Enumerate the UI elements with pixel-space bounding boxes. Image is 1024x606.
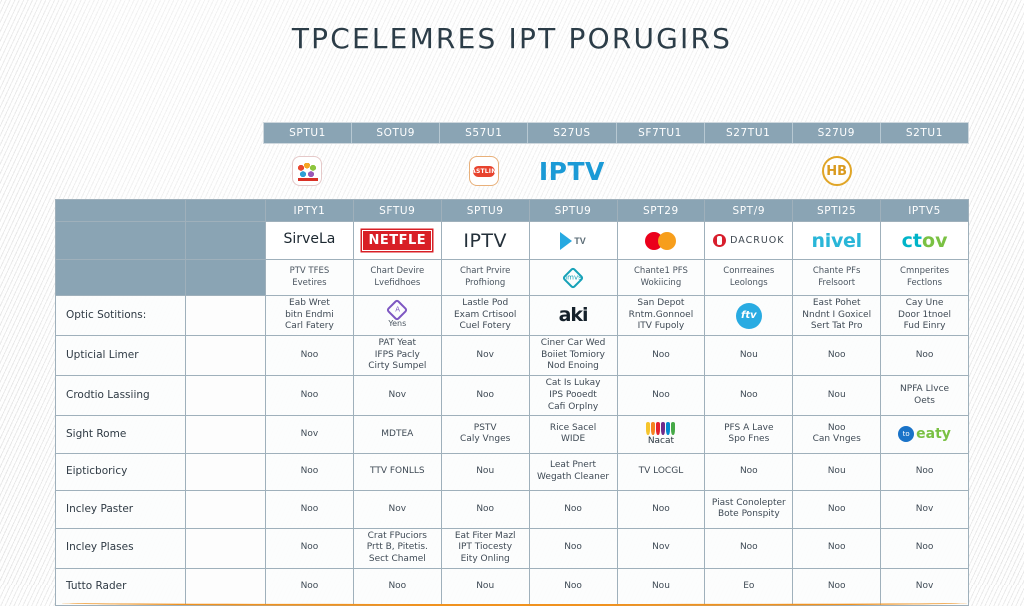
brand-logo-row: SirveLa NETFLE IPTV TV DACRUOK nivel cto… (56, 222, 969, 260)
page-title: TPCELEMRES IPT PORUGIRS (0, 22, 1024, 55)
row-spacer-cell (186, 491, 266, 529)
brand-cell-tv: TV (529, 222, 617, 260)
data-cell: Crat FPuciors Prtt B, Pitetis. Sect Cham… (353, 528, 441, 568)
data-cell-eaty: toeaty (881, 416, 969, 454)
data-cell: Noo (793, 491, 881, 529)
eaty-label: eaty (916, 425, 951, 443)
data-cell: Noo (617, 491, 705, 529)
brand-cell-nivel: nivel (793, 222, 881, 260)
tv-triangle-icon (560, 232, 572, 250)
row-label: Incley Plases (56, 528, 186, 568)
top-band-cell: S2TU1 (881, 123, 968, 143)
data-cell-nbc: Nacat (617, 416, 705, 454)
data-cell: Noo (793, 336, 881, 376)
row-spacer-cell (186, 376, 266, 416)
data-cell: TV LOCGL (617, 453, 705, 491)
sirvela-logo-icon: SirveLa (284, 231, 336, 251)
ctov-logo-icon: ctov (902, 230, 948, 252)
data-cell: Nov (881, 491, 969, 529)
mastercard-logo-icon (618, 232, 705, 250)
table-row[interactable]: Eipticboricy Noo TTV FONLLS Nou Leat Pne… (56, 453, 969, 491)
data-cell: Noo (266, 376, 354, 416)
sub-cell: Chart Devire Lvefidhoes (353, 260, 441, 296)
data-cell: Piast Conolepter Bote Ponspity (705, 491, 793, 529)
row-spacer-cell (186, 453, 266, 491)
row-label: Upticial Limer (56, 336, 186, 376)
top-band-cell: S27TU1 (705, 123, 793, 143)
data-cell-ftv: ftv (705, 296, 793, 336)
sub-cell: Conrreaines Leolongs (705, 260, 793, 296)
data-cell: Noo (266, 491, 354, 529)
data-cell: Leat Pnert Wegath Cleaner (529, 453, 617, 491)
table-row[interactable]: Incley Plases Noo Crat FPuciors Prtt B, … (56, 528, 969, 568)
data-cell: NPFA LIvce Oets (881, 376, 969, 416)
logo-slot-empty (351, 144, 439, 198)
logo-slot: HB (793, 144, 881, 198)
data-cell: Lastle Pod Exam Crtisool Cuel Fotery (441, 296, 529, 336)
sub-row-label-pad (56, 260, 186, 296)
sub-cell: Cmnperites Fectlons (881, 260, 969, 296)
data-cell-diamond: A Yens (353, 296, 441, 336)
top-logo-band: CASTLINE IPTV HB (263, 144, 969, 198)
data-cell: Noo (266, 336, 354, 376)
column-header[interactable]: SPTU9 (529, 200, 617, 222)
column-header[interactable]: IPTY1 (266, 200, 354, 222)
eaty-circle-icon: to (898, 426, 914, 442)
table-row[interactable]: Incley Paster Noo Nov Noo Noo Noo Piast … (56, 491, 969, 529)
brand-cell-mastercard (617, 222, 705, 260)
peacock-logo-icon: Nacat (621, 422, 702, 448)
teal-diamond-icon: imvs (562, 266, 585, 289)
data-cell: Noo (266, 453, 354, 491)
brand-cell-sirvela: SirveLa (266, 222, 354, 260)
top-band-cell: SF7TU1 (617, 123, 705, 143)
data-cell: PSTV Caly Vnges (441, 416, 529, 454)
data-cell: Nov (266, 416, 354, 454)
data-cell: East Pohet Nndnt I Goxicel Sert Tat Pro (793, 296, 881, 336)
hb-circle-icon: HB (822, 156, 852, 186)
brand-row-label-pad (56, 222, 186, 260)
dacruok-flame-icon (713, 234, 726, 247)
flower-tile-icon (292, 156, 322, 186)
nbc-label: Nacat (648, 436, 674, 448)
data-cell: Noo (529, 528, 617, 568)
dacruok-logo-label: DACRUOK (730, 235, 784, 246)
flower-bar-glyph (298, 178, 318, 181)
logo-slot-empty (881, 144, 969, 198)
column-header[interactable]: IPTV5 (881, 200, 969, 222)
logo-slot: IPTV (528, 144, 616, 198)
comparison-table: IPTY1 SFTU9 SPTU9 SPTU9 SPT29 SPT/9 SPTI… (55, 199, 969, 606)
cast-tile-icon: CASTLINE (469, 156, 499, 186)
column-header[interactable]: SPT29 (617, 200, 705, 222)
data-cell: Eab Wret bitn Endmi Carl Fatery (266, 296, 354, 336)
data-cell: MDTEA (353, 416, 441, 454)
brand-row-spacer-pad (186, 222, 266, 260)
brand-subtitle-row: PTV TFES Evetires Chart Devire Lvefidhoe… (56, 260, 969, 296)
aki-logo-icon: aki (559, 304, 588, 326)
data-cell: San Depot Rntm.Gonnoel ITV Fupoly (617, 296, 705, 336)
cast-pill-label: CASTLINE (473, 166, 495, 177)
data-cell: Noo (705, 453, 793, 491)
table-row[interactable]: Crodtio Lassiing Noo Nov Noo Cat Is Luka… (56, 376, 969, 416)
brand-cell-iptv: IPTV (441, 222, 529, 260)
top-band-cell: S27U9 (793, 123, 881, 143)
data-cell: Rice Sacel WIDE (529, 416, 617, 454)
top-brand-header-band: SPTU1 SOTU9 S57U1 S27US SF7TU1 S27TU1 S2… (263, 122, 969, 144)
data-cell: Noo (529, 491, 617, 529)
row-label: Crodtio Lassiing (56, 376, 186, 416)
brand-cell-netfle: NETFLE (353, 222, 441, 260)
top-band-cell: S57U1 (440, 123, 528, 143)
data-cell: Noo (617, 376, 705, 416)
logo-slot: CASTLINE (440, 144, 528, 198)
table-row[interactable]: Upticial Limer Noo PAT Yeat IFPS Pacly C… (56, 336, 969, 376)
brand-cell-dacruok: DACRUOK (705, 222, 793, 260)
data-cell-aki: aki (529, 296, 617, 336)
sub-cell: PTV TFES Evetires (266, 260, 354, 296)
tv-logo-label: TV (574, 236, 586, 246)
column-header[interactable]: SPTI25 (793, 200, 881, 222)
data-cell: Cat Is Lukay IPS Pooedt Cafi Orplny (529, 376, 617, 416)
data-cell: Nou (793, 453, 881, 491)
data-cell: Nov (353, 376, 441, 416)
table-header-row: IPTY1 SFTU9 SPTU9 SPTU9 SPT29 SPT/9 SPTI… (56, 200, 969, 222)
header-blank-spacer (186, 200, 266, 222)
data-cell: Nou (441, 453, 529, 491)
row-label: Incley Paster (56, 491, 186, 529)
data-cell: Noo (705, 528, 793, 568)
row-spacer-cell (186, 416, 266, 454)
data-cell: Noo (881, 528, 969, 568)
data-cell: Noo (793, 528, 881, 568)
data-cell: Nou (793, 376, 881, 416)
sub-cell: Chante1 PFS Wokiicing (617, 260, 705, 296)
ftv-circle-icon: ftv (736, 303, 762, 329)
table-row[interactable]: Optic Sotitions: Eab Wret bitn Endmi Car… (56, 296, 969, 336)
nivel-logo-icon: nivel (812, 230, 862, 252)
header-blank-label (56, 200, 186, 222)
column-header[interactable]: SPTU9 (441, 200, 529, 222)
brand-cell-ctov: ctov (881, 222, 969, 260)
sub-row-spacer-pad (186, 260, 266, 296)
logo-slot (263, 144, 351, 198)
data-cell: Noo (441, 491, 529, 529)
flower-glyph (297, 163, 317, 179)
row-spacer-cell (186, 296, 266, 336)
data-cell: Noo (266, 528, 354, 568)
data-cell: Cay Une Door 1tnoel Fud Einry (881, 296, 969, 336)
sub-cell: Chart Prvire Profhiong (441, 260, 529, 296)
netfle-logo-icon: NETFLE (362, 230, 432, 251)
column-header[interactable]: SPT/9 (705, 200, 793, 222)
logo-slot-empty (616, 144, 704, 198)
data-cell: Nov (617, 528, 705, 568)
data-cell: Noo Can Vnges (793, 416, 881, 454)
data-cell: Nov (353, 491, 441, 529)
data-cell: Noo (705, 376, 793, 416)
data-cell: Noo (617, 336, 705, 376)
sub-cell: Chante PFs Frelsoort (793, 260, 881, 296)
data-cell: PAT Yeat IFPS Pacly Cirty Sumpel (353, 336, 441, 376)
logo-slot-empty (704, 144, 792, 198)
purple-diamond-icon: A (386, 299, 409, 322)
data-cell: Eat Fiter Mazl IPT Tiocesty Eity Onling (441, 528, 529, 568)
iptv-wordmark-icon: IPTV (539, 157, 605, 186)
data-cell: TTV FONLLS (353, 453, 441, 491)
amazon-swoosh-icon (62, 600, 967, 606)
row-label: Eipticboricy (56, 453, 186, 491)
row-spacer-cell (186, 336, 266, 376)
sub-cell-teal-diamond: imvs (529, 260, 617, 296)
row-label: Sight Rome (56, 416, 186, 454)
top-band-cell: SPTU1 (264, 123, 352, 143)
iptv-logo-icon: IPTV (463, 230, 507, 252)
data-cell: Noo (881, 336, 969, 376)
data-cell: Nou (705, 336, 793, 376)
top-band-cell: S27US (528, 123, 616, 143)
top-band-cell: SOTU9 (352, 123, 440, 143)
data-cell: Ciner Car Wed Boiiet Tomiory Nod Enoing (529, 336, 617, 376)
data-cell: Noo (441, 376, 529, 416)
row-spacer-cell (186, 528, 266, 568)
data-cell: Noo (881, 453, 969, 491)
table-row[interactable]: Sight Rome Nov MDTEA PSTV Caly Vnges Ric… (56, 416, 969, 454)
column-header[interactable]: SFTU9 (353, 200, 441, 222)
data-cell: Nov (441, 336, 529, 376)
data-cell: PFS A Lave Spo Fnes (705, 416, 793, 454)
row-label: Optic Sotitions: (56, 296, 186, 336)
